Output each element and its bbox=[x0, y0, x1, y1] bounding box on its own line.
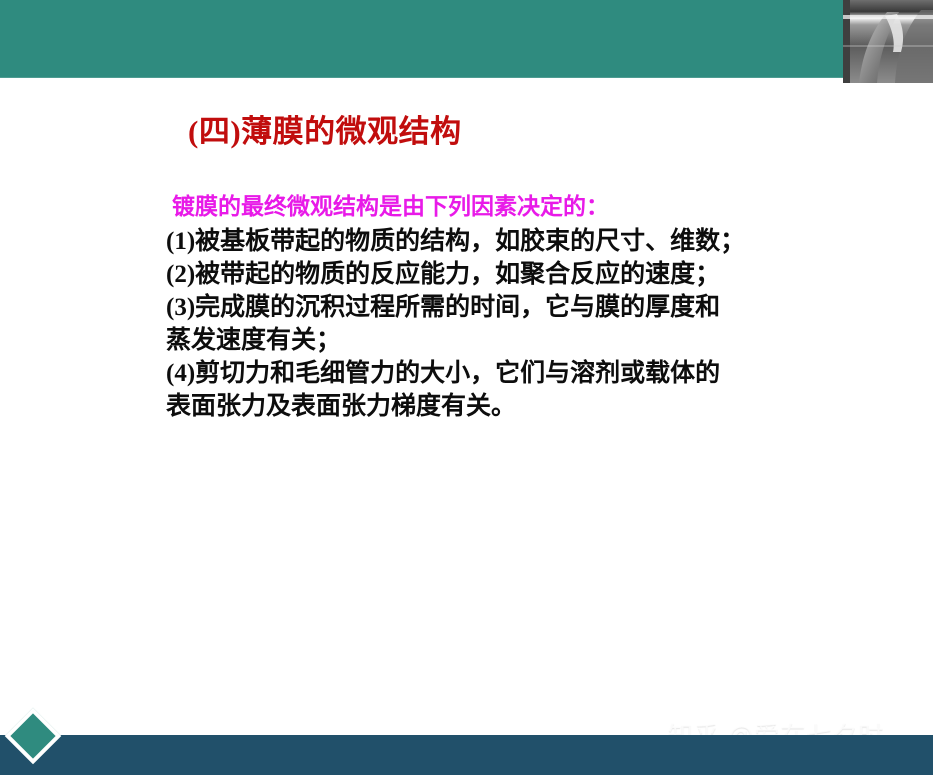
body-line-5: (4)剪切力和毛细管力的大小，它们与溶剂或载体的 bbox=[166, 357, 826, 390]
page-title: (四)薄膜的微观结构 bbox=[188, 106, 462, 151]
sem-micrograph-icon bbox=[843, 0, 933, 83]
footer-bar bbox=[0, 735, 933, 775]
body-line-6: 表面张力及表面张力梯度有关。 bbox=[166, 390, 826, 423]
body-line-3: (3)完成膜的沉积过程所需的时间，它与膜的厚度和 bbox=[166, 291, 826, 324]
sem-micrograph-image bbox=[843, 0, 933, 83]
header-band bbox=[0, 0, 843, 77]
slide-canvas: (四)薄膜的微观结构 镀膜的最终微观结构是由下列因素决定的： (1)被基板带起的… bbox=[0, 0, 933, 775]
header-band-edge bbox=[0, 73, 843, 78]
body-line-4: 蒸发速度有关； bbox=[166, 324, 826, 357]
lead-statement: 镀膜的最终微观结构是由下列因素决定的： bbox=[172, 192, 826, 222]
body-text-block: 镀膜的最终微观结构是由下列因素决定的： (1)被基板带起的物质的结构，如胶束的尺… bbox=[166, 192, 826, 423]
body-line-1: (1)被基板带起的物质的结构，如胶束的尺寸、维数； bbox=[166, 225, 826, 258]
body-line-2: (2)被带起的物质的反应能力，如聚合反应的速度； bbox=[166, 258, 826, 291]
